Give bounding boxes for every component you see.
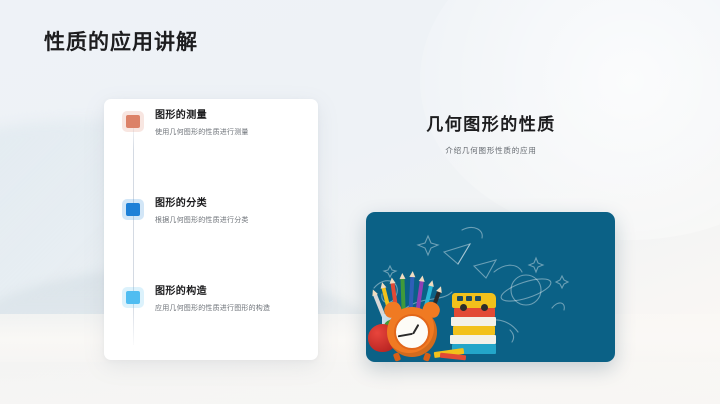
bullet-marker-icon — [126, 291, 140, 304]
list-item-title: 图形的构造 — [155, 284, 310, 300]
list-item[interactable]: 图形的测量 使用几何图形的性质进行测量 — [126, 108, 310, 138]
list-item-title: 图形的分类 — [155, 196, 310, 212]
list-item[interactable]: 图形的分类 根据几何图形的性质进行分类 — [126, 196, 310, 226]
section-subheading: 介绍几何图形性质的应用 — [366, 145, 616, 156]
section-heading: 几何图形的性质 — [366, 110, 616, 135]
book-icon — [453, 326, 495, 335]
book-icon — [450, 335, 496, 344]
list-item-description: 使用几何图形的性质进行测量 — [155, 127, 310, 138]
bullet-marker-icon — [126, 203, 140, 216]
list-item-title: 图形的测量 — [155, 108, 310, 124]
list-item-description: 根据几何图形的性质进行分类 — [155, 215, 310, 226]
list-item[interactable]: 图形的构造 应用几何图形的性质进行图形的构造 — [126, 284, 310, 314]
school-bus-icon — [452, 293, 496, 308]
illustration-card[interactable] — [366, 212, 615, 362]
book-icon — [451, 317, 496, 326]
bullet-marker-icon — [126, 115, 140, 128]
alarm-clock-icon — [387, 307, 437, 357]
timeline-card: 图形的测量 使用几何图形的性质进行测量 图形的分类 根据几何图形的性质进行分类 … — [104, 99, 318, 360]
slide-root: 性质的应用讲解 图形的测量 使用几何图形的性质进行测量 图形的分类 根据几何图形… — [0, 0, 720, 404]
page-title: 性质的应用讲解 — [44, 26, 198, 56]
list-item-description: 应用几何图形的性质进行图形的构造 — [155, 303, 310, 314]
illustration-canvas — [366, 212, 615, 362]
